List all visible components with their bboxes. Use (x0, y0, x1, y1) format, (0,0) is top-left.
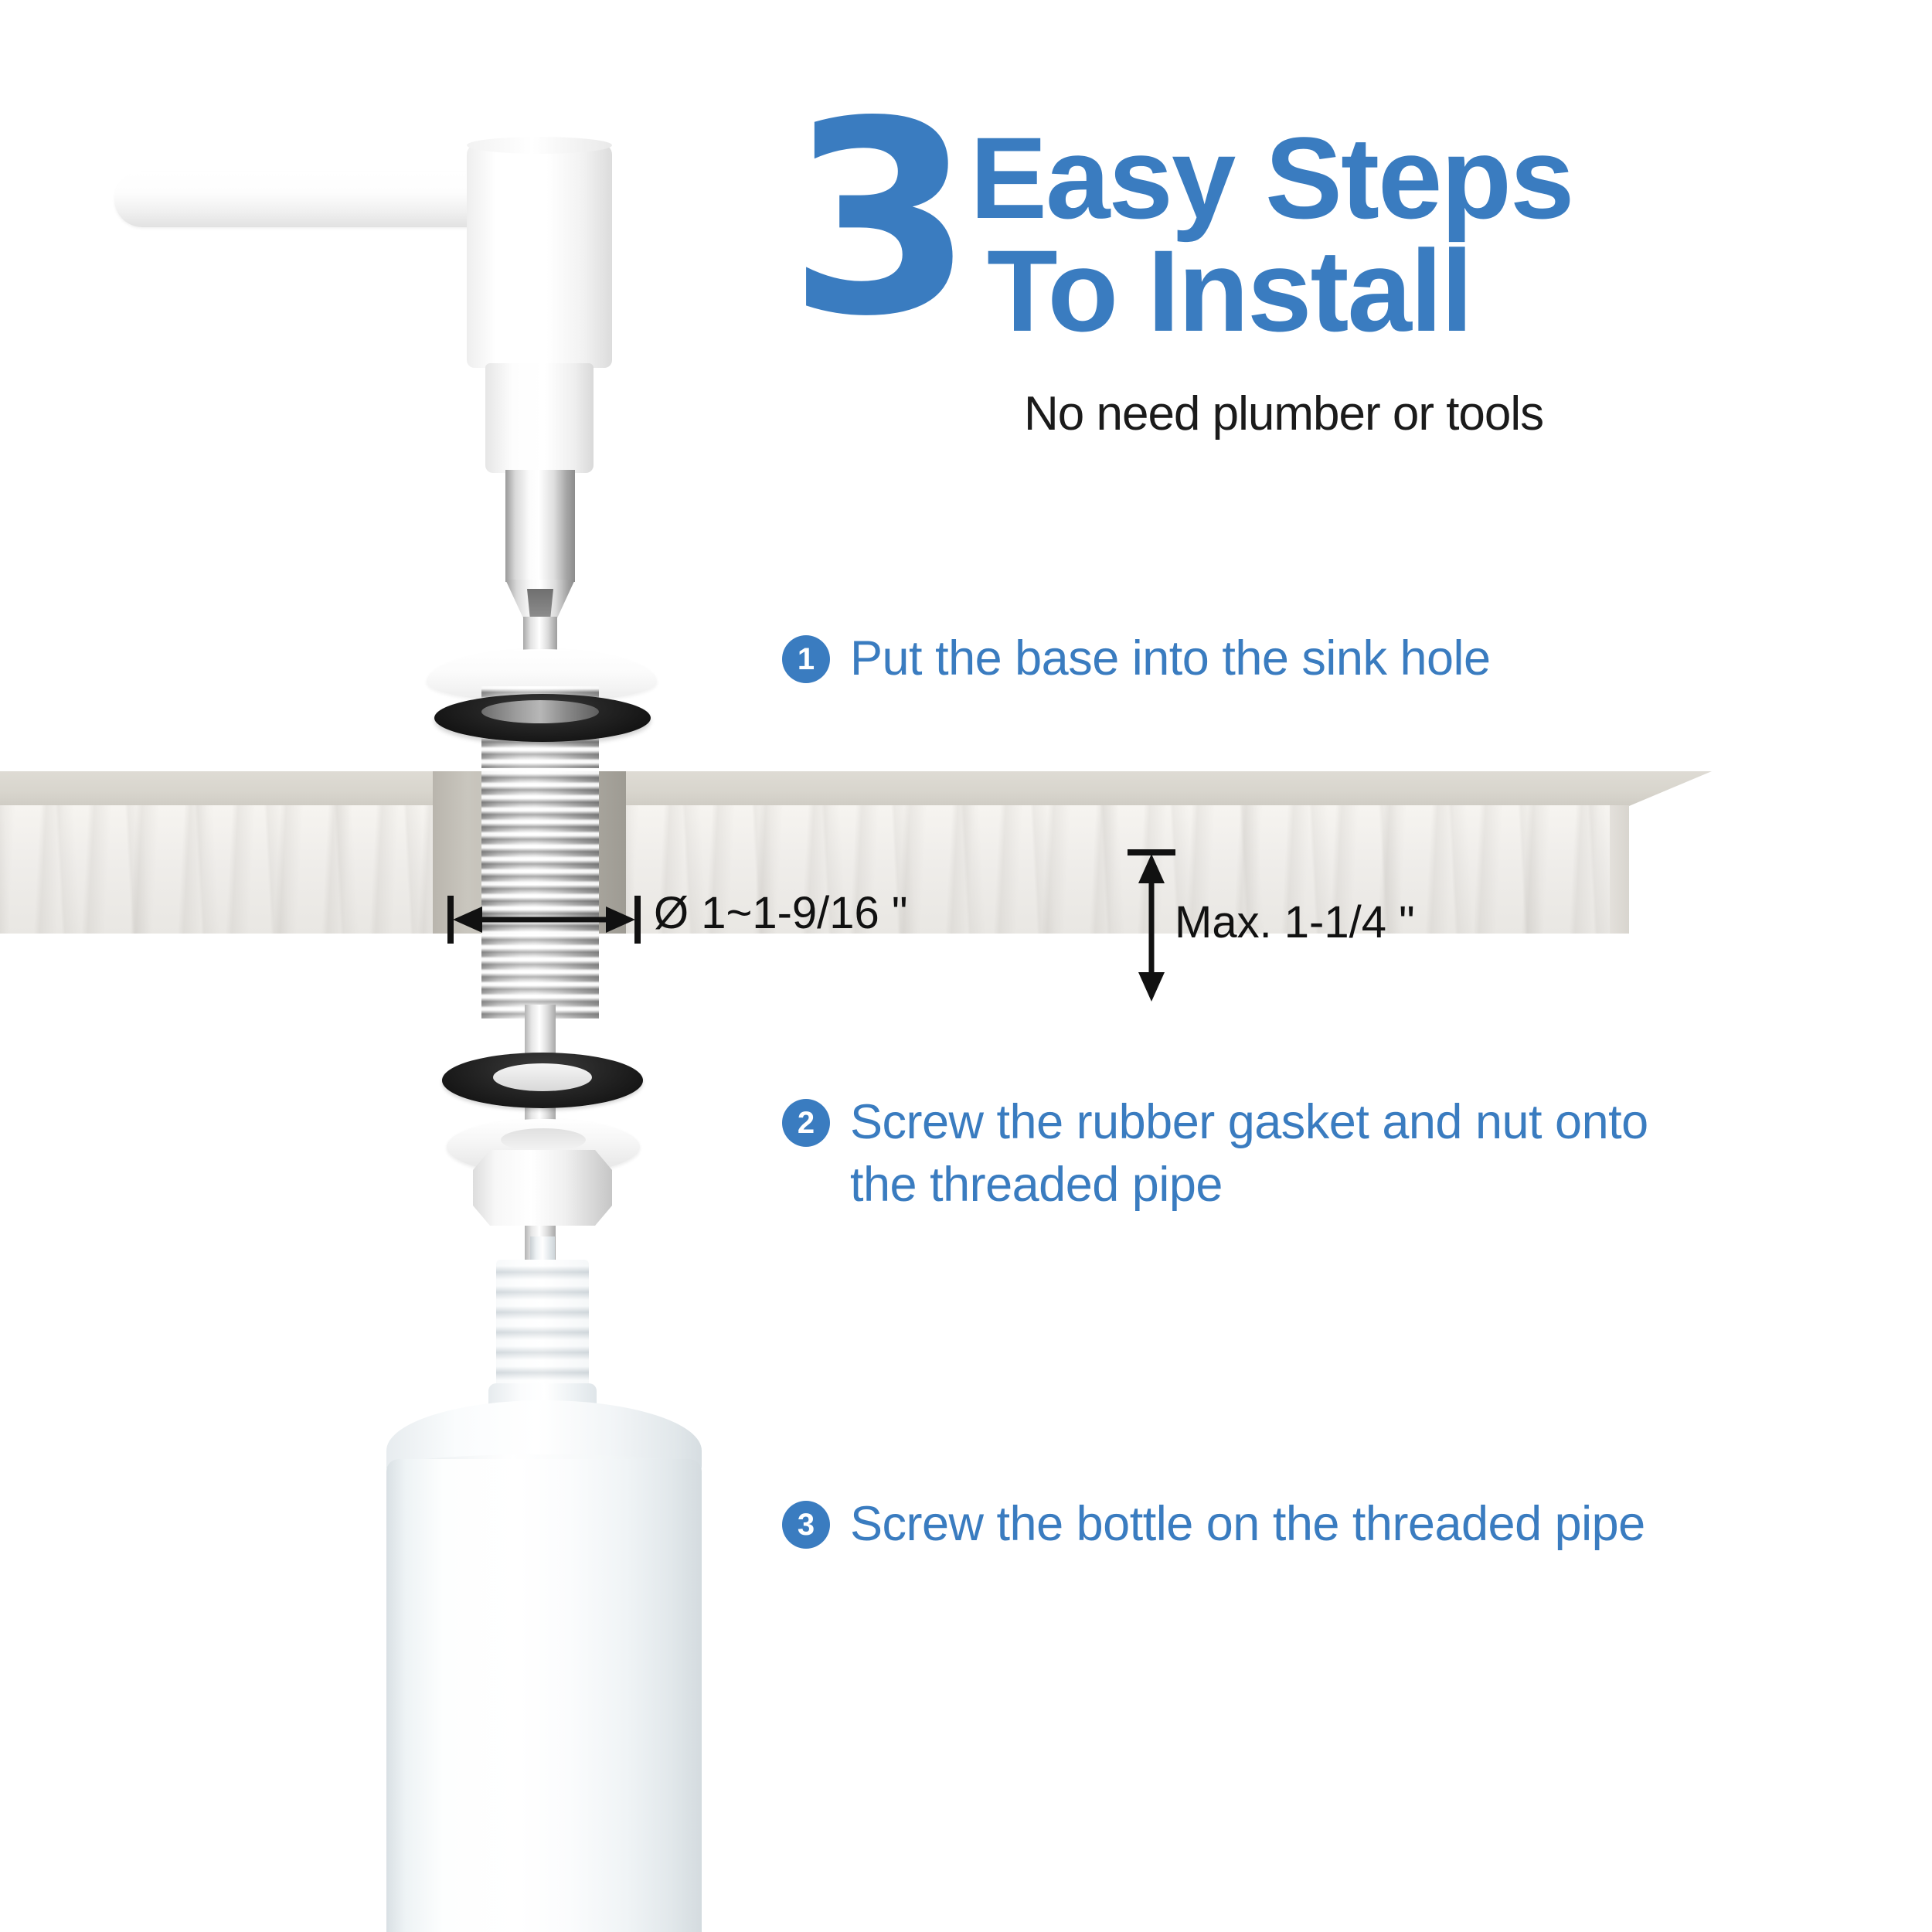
headline-text: Easy Steps To Install (970, 122, 1573, 347)
chrome-shaft-upper (505, 470, 575, 582)
pump-head-cap (467, 144, 612, 368)
pump-collar (485, 363, 594, 473)
headline-subtitle: No need plumber or tools (1024, 386, 1543, 441)
headline-number: 3 (788, 87, 966, 353)
headline-line-1: Easy Steps (970, 122, 1573, 235)
arrow-horizontal-icon (447, 893, 641, 947)
clear-soap-bottle (386, 1459, 702, 1932)
hole-diameter-arrow (447, 893, 641, 947)
step-item-3: 3 Screw the bottle on the threaded pipe (782, 1493, 1645, 1556)
step-item-2: 2 Screw the rubber gasket and nut onto t… (782, 1091, 1648, 1216)
black-rubber-gasket-bottom-bore (493, 1063, 592, 1091)
bottle-neck-threads (496, 1260, 589, 1389)
white-hex-nut-bore (501, 1128, 586, 1151)
headline-line-2: To Install (970, 235, 1573, 348)
countertop-top-surface (0, 771, 1712, 806)
pump-spout (114, 172, 509, 227)
step-text-2: Screw the rubber gasket and nut onto the… (850, 1091, 1648, 1216)
max-thickness-label: Max. 1-1/4 " (1175, 896, 1415, 948)
step-item-1: 1 Put the base into the sink hole (782, 628, 1491, 690)
hole-diameter-label: Ø 1~1-9/16 " (654, 887, 908, 939)
step-text-3: Screw the bottle on the threaded pipe (850, 1493, 1645, 1556)
headline-block: 3 Easy Steps To Install (788, 116, 1886, 394)
step-badge-2: 2 (782, 1099, 830, 1147)
max-thickness-arrow (1124, 849, 1179, 1003)
white-hex-nut-body (473, 1150, 612, 1226)
arrow-vertical-icon (1124, 849, 1179, 1003)
step-badge-1: 1 (782, 635, 830, 683)
step-text-1: Put the base into the sink hole (850, 628, 1491, 690)
step-badge-3: 3 (782, 1501, 830, 1549)
chrome-shaft-taper (505, 580, 575, 620)
instruction-infographic: 3 Easy Steps To Install No need plumber … (0, 0, 1932, 1932)
black-rubber-gasket-top-bore (481, 700, 599, 723)
countertop-right-edge (1610, 805, 1633, 934)
